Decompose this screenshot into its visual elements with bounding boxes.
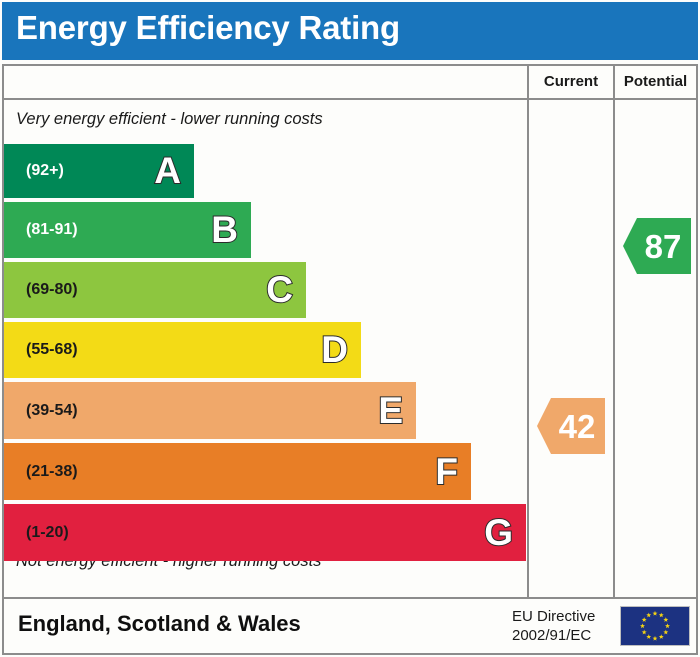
current-rating-marker: 42 bbox=[537, 398, 605, 454]
page-title: Energy Efficiency Rating bbox=[16, 9, 400, 47]
rating-band-g: (1-20)G bbox=[4, 504, 526, 561]
footer: England, Scotland & Wales EU Directive 2… bbox=[2, 599, 698, 655]
directive-line-1: EU Directive bbox=[512, 608, 595, 627]
eu-flag-icon bbox=[620, 606, 690, 646]
rating-band-d: (55-68)D bbox=[4, 322, 361, 378]
band-chart: Very energy efficient - lower running co… bbox=[4, 100, 527, 597]
column-header-row: Current Potential bbox=[4, 66, 696, 100]
band-range-label: (81-91) bbox=[26, 221, 78, 239]
current-rating-column: 42 bbox=[529, 100, 613, 597]
band-letter-f: F bbox=[435, 452, 458, 489]
body-divider-current bbox=[527, 100, 529, 597]
current-rating-value: 42 bbox=[559, 410, 596, 443]
column-header-potential: Potential bbox=[615, 73, 696, 90]
band-letter-c: C bbox=[266, 271, 293, 308]
band-letter-d: D bbox=[321, 331, 348, 368]
band-letter-b: B bbox=[211, 211, 238, 248]
footer-region-label: England, Scotland & Wales bbox=[18, 611, 301, 637]
band-letter-a: A bbox=[154, 152, 181, 189]
rating-band-e: (39-54)E bbox=[4, 382, 416, 439]
band-range-label: (92+) bbox=[26, 162, 64, 180]
rating-band-a: (92+)A bbox=[4, 144, 194, 198]
rating-band-f: (21-38)F bbox=[4, 443, 471, 500]
band-range-label: (69-80) bbox=[26, 281, 78, 299]
footer-directive: EU Directive 2002/91/EC bbox=[512, 608, 595, 646]
band-range-label: (55-68) bbox=[26, 341, 78, 359]
body-divider-potential bbox=[613, 100, 615, 597]
column-header-current: Current bbox=[529, 73, 613, 90]
band-range-label: (21-38) bbox=[26, 463, 78, 481]
eu-flag-stars bbox=[621, 607, 689, 645]
band-range-label: (1-20) bbox=[26, 524, 69, 542]
rating-table: Current Potential Very energy efficient … bbox=[2, 64, 698, 599]
energy-efficiency-certificate: Energy Efficiency Rating Current Potenti… bbox=[0, 0, 700, 657]
potential-rating-value: 87 bbox=[645, 230, 682, 263]
potential-rating-marker: 87 bbox=[623, 218, 691, 274]
title-bar: Energy Efficiency Rating bbox=[2, 2, 698, 60]
rating-band-b: (81-91)B bbox=[4, 202, 251, 258]
band-letter-g: G bbox=[484, 513, 513, 550]
directive-line-2: 2002/91/EC bbox=[512, 627, 595, 646]
caption-efficient: Very energy efficient - lower running co… bbox=[16, 110, 323, 129]
potential-rating-column: 87 bbox=[615, 100, 696, 597]
band-letter-e: E bbox=[378, 391, 403, 428]
rating-band-c: (69-80)C bbox=[4, 262, 306, 318]
band-range-label: (39-54) bbox=[26, 402, 78, 420]
